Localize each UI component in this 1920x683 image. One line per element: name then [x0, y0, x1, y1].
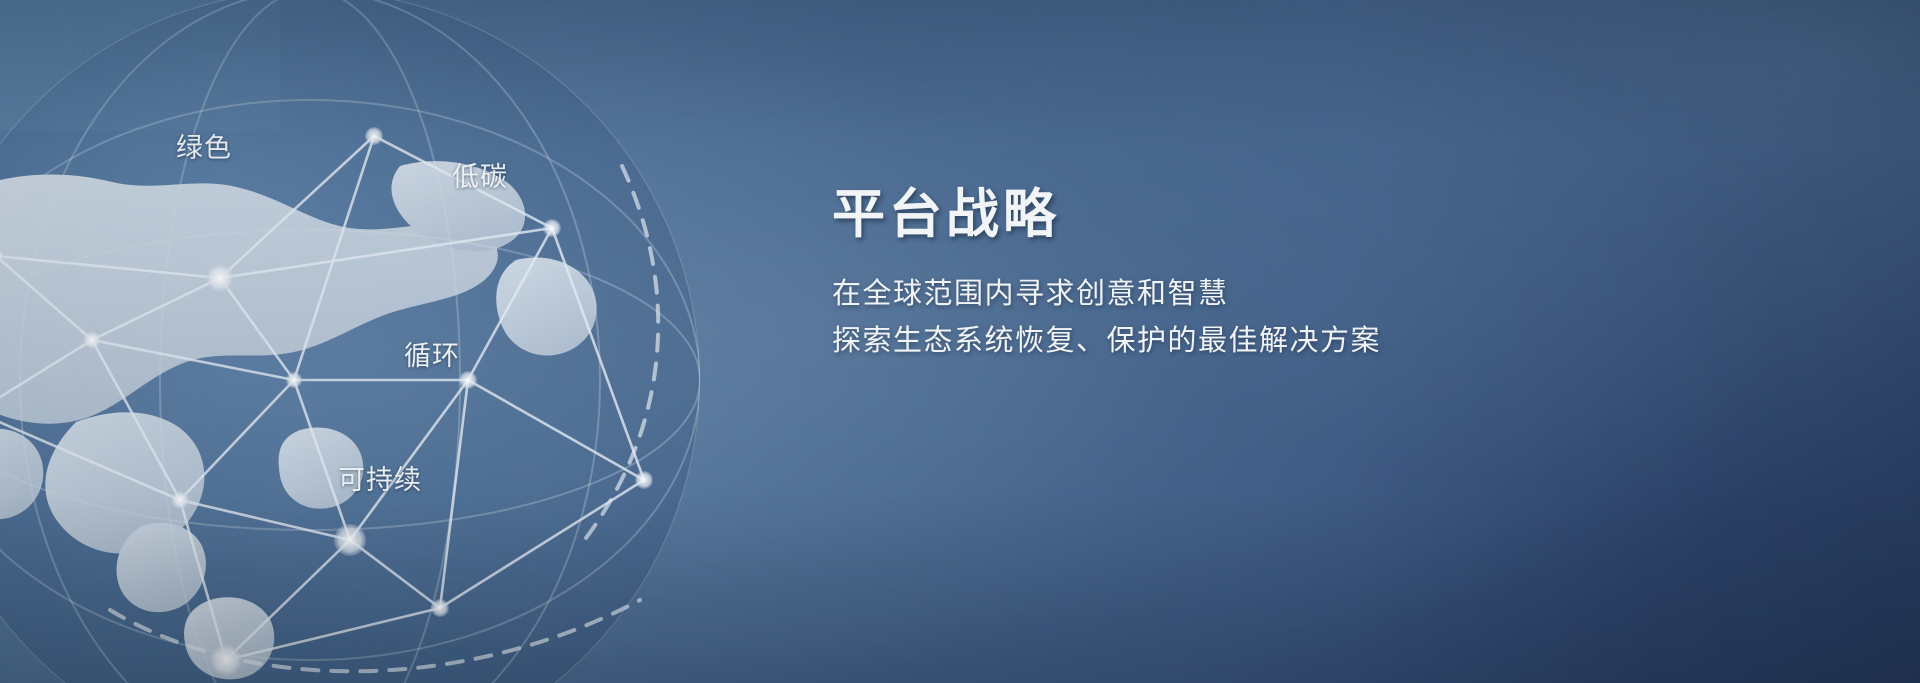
network-label-1: 低碳 — [452, 155, 508, 194]
network-label-0: 绿色 — [176, 126, 232, 165]
network-label-3: 可持续 — [338, 458, 422, 497]
page-title: 平台战略 — [832, 186, 1592, 243]
network-label-2: 循环 — [404, 334, 460, 373]
subtitle-line-2: 探索生态系统恢复、保护的最佳解决方案 — [832, 318, 1592, 365]
subtitle-line-1: 在全球范围内寻求创意和智慧 — [832, 271, 1592, 318]
hero-banner: 绿色低碳循环可持续 平台战略 在全球范围内寻求创意和智慧 探索生态系统恢复、保护… — [0, 0, 1920, 683]
hero-text-block: 平台战略 在全球范围内寻求创意和智慧 探索生态系统恢复、保护的最佳解决方案 — [832, 186, 1592, 365]
subtitle-group: 在全球范围内寻求创意和智慧 探索生态系统恢复、保护的最佳解决方案 — [832, 271, 1592, 365]
globe-graphic — [0, 0, 920, 683]
